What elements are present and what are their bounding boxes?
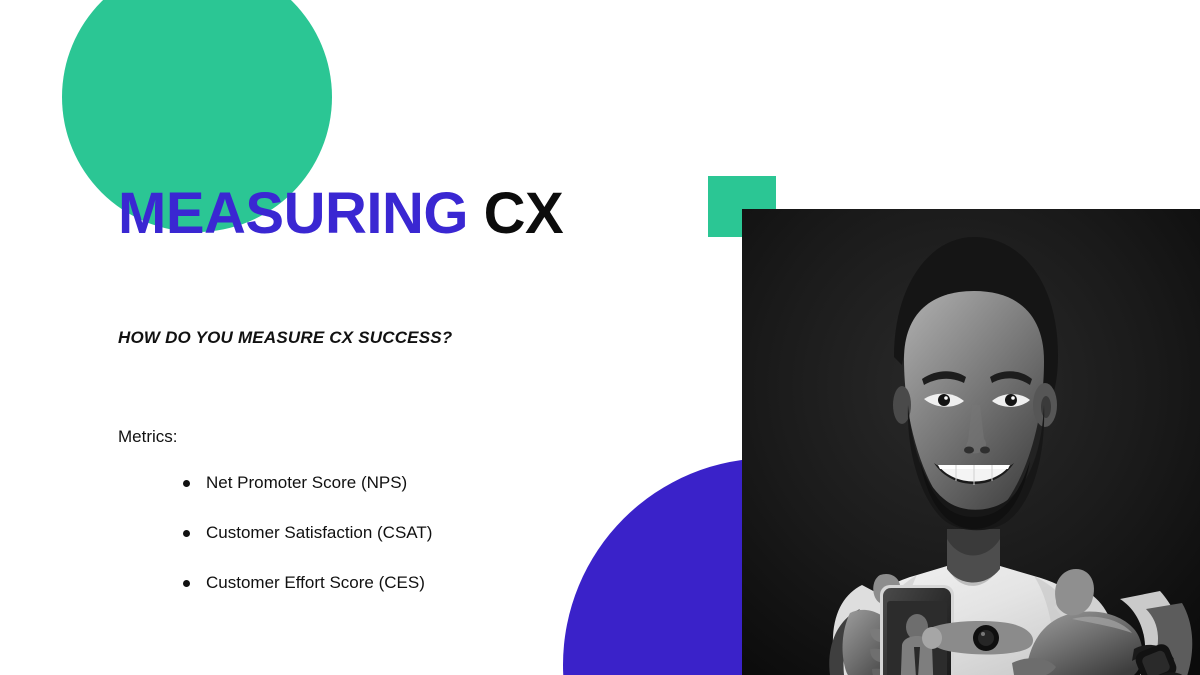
bullet-icon — [183, 480, 190, 487]
page-title-suffix: CX — [484, 181, 564, 246]
list-item-label: Customer Effort Score (CES) — [206, 573, 425, 592]
page-title-accent: MEASURING — [118, 181, 484, 246]
list-item-label: Customer Satisfaction (CSAT) — [206, 523, 432, 542]
slide-subtitle: HOW DO YOU MEASURE CX SUCCESS? — [118, 328, 452, 348]
page-title: MEASURING CX — [118, 180, 638, 248]
list-item: Net Promoter Score (NPS) — [178, 472, 432, 522]
slide-canvas: MEASURING CX HOW DO YOU MEASURE CX SUCCE… — [0, 0, 1200, 675]
list-item: Customer Effort Score (CES) — [178, 572, 432, 622]
metrics-list: Net Promoter Score (NPS) Customer Satisf… — [178, 472, 432, 622]
bullet-icon — [183, 530, 190, 537]
metrics-label: Metrics: — [118, 427, 178, 447]
bullet-icon — [183, 580, 190, 587]
slide-text-column: MEASURING CX HOW DO YOU MEASURE CX SUCCE… — [118, 180, 638, 248]
portrait-photo — [742, 209, 1200, 675]
list-item: Customer Satisfaction (CSAT) — [178, 522, 432, 572]
list-item-label: Net Promoter Score (NPS) — [206, 473, 407, 492]
